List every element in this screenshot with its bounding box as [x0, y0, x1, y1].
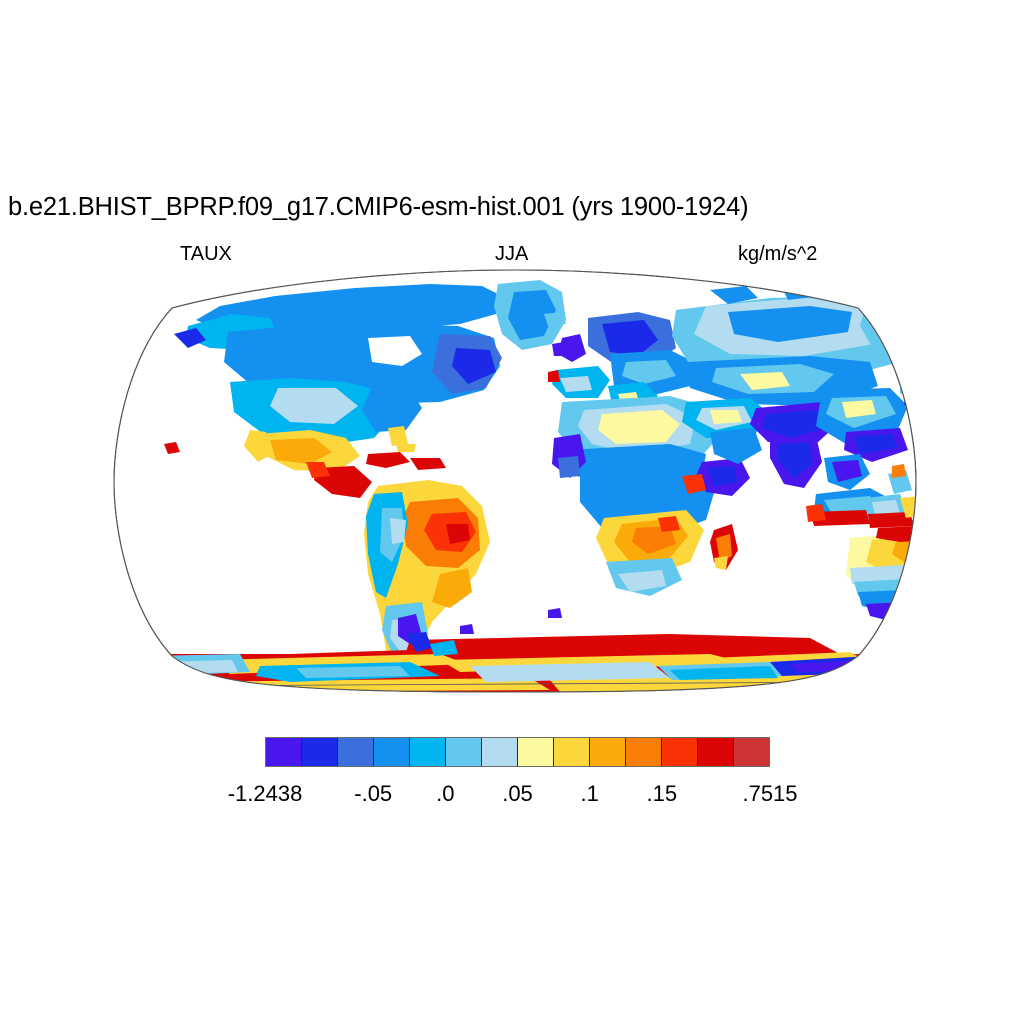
colorbar-bin-3	[374, 738, 410, 766]
colorbar-bin-0	[266, 738, 302, 766]
colorbar-bin-7	[518, 738, 554, 766]
colorbar-tick-2: .0	[436, 781, 454, 807]
colorbar-bin-5	[446, 738, 482, 766]
colorbar-tick-6: .7515	[742, 781, 797, 807]
colorbar-tick-1: -.05	[354, 781, 392, 807]
figure-title: b.e21.BHIST_BPRP.f09_g17.CMIP6-esm-hist.…	[8, 193, 1018, 222]
colorbar[interactable]	[265, 737, 770, 767]
figure-canvas: b.e21.BHIST_BPRP.f09_g17.CMIP6-esm-hist.…	[0, 0, 1024, 1024]
colorbar-bin-1	[302, 738, 338, 766]
colorbar-bin-10	[626, 738, 662, 766]
colorbar-bin-6	[482, 738, 518, 766]
colorbar-bin-9	[590, 738, 626, 766]
colorbar-bin-4	[410, 738, 446, 766]
colorbar-tick-4: .1	[580, 781, 598, 807]
colorbar-bin-11	[662, 738, 698, 766]
colorbar-bin-2	[338, 738, 374, 766]
colorbar-tick-labels: -1.2438-.05.0.05.1.15.7515	[150, 781, 910, 811]
colorbar-tick-3: .05	[502, 781, 533, 807]
colorbar-tick-0: -1.2438	[228, 781, 303, 807]
colorbar-bin-13	[734, 738, 769, 766]
colorbar-bin-12	[698, 738, 734, 766]
colorbar-bin-8	[554, 738, 590, 766]
map-plot-area	[110, 262, 920, 702]
world-map	[110, 262, 920, 702]
colorbar-tick-5: .15	[646, 781, 677, 807]
